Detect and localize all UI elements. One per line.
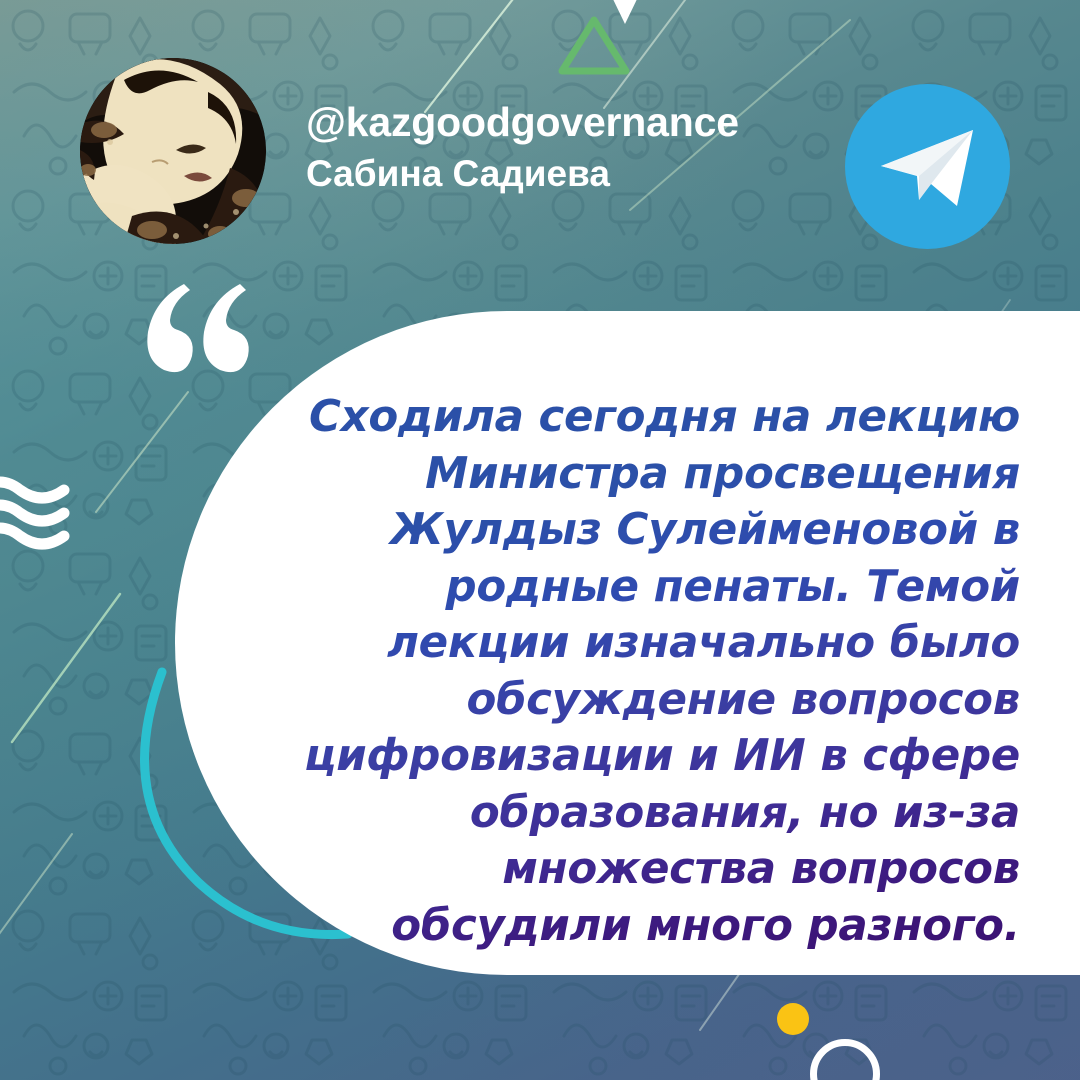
social-quote-card: @kazgoodgovernance Сабина Садиева Сходил… bbox=[0, 0, 1080, 1080]
quote-text: Сходила сегодня на лекцию Министра просв… bbox=[290, 389, 1020, 954]
avatar bbox=[80, 58, 266, 244]
triangle-outline-icon bbox=[558, 14, 630, 76]
telegram-logo-icon[interactable] bbox=[845, 84, 1010, 249]
account-fullname: Сабина Садиева bbox=[306, 152, 866, 196]
quote-open-icon bbox=[140, 282, 252, 378]
dot-filled-icon bbox=[777, 1003, 809, 1035]
avatar-portrait-icon bbox=[80, 58, 266, 244]
quote-card: Сходила сегодня на лекцию Министра просв… bbox=[175, 311, 1080, 975]
wave-lines-icon bbox=[0, 474, 104, 552]
account-handle[interactable]: @kazgoodgovernance bbox=[306, 98, 866, 146]
account-identity-block: @kazgoodgovernance Сабина Садиева bbox=[306, 98, 866, 196]
